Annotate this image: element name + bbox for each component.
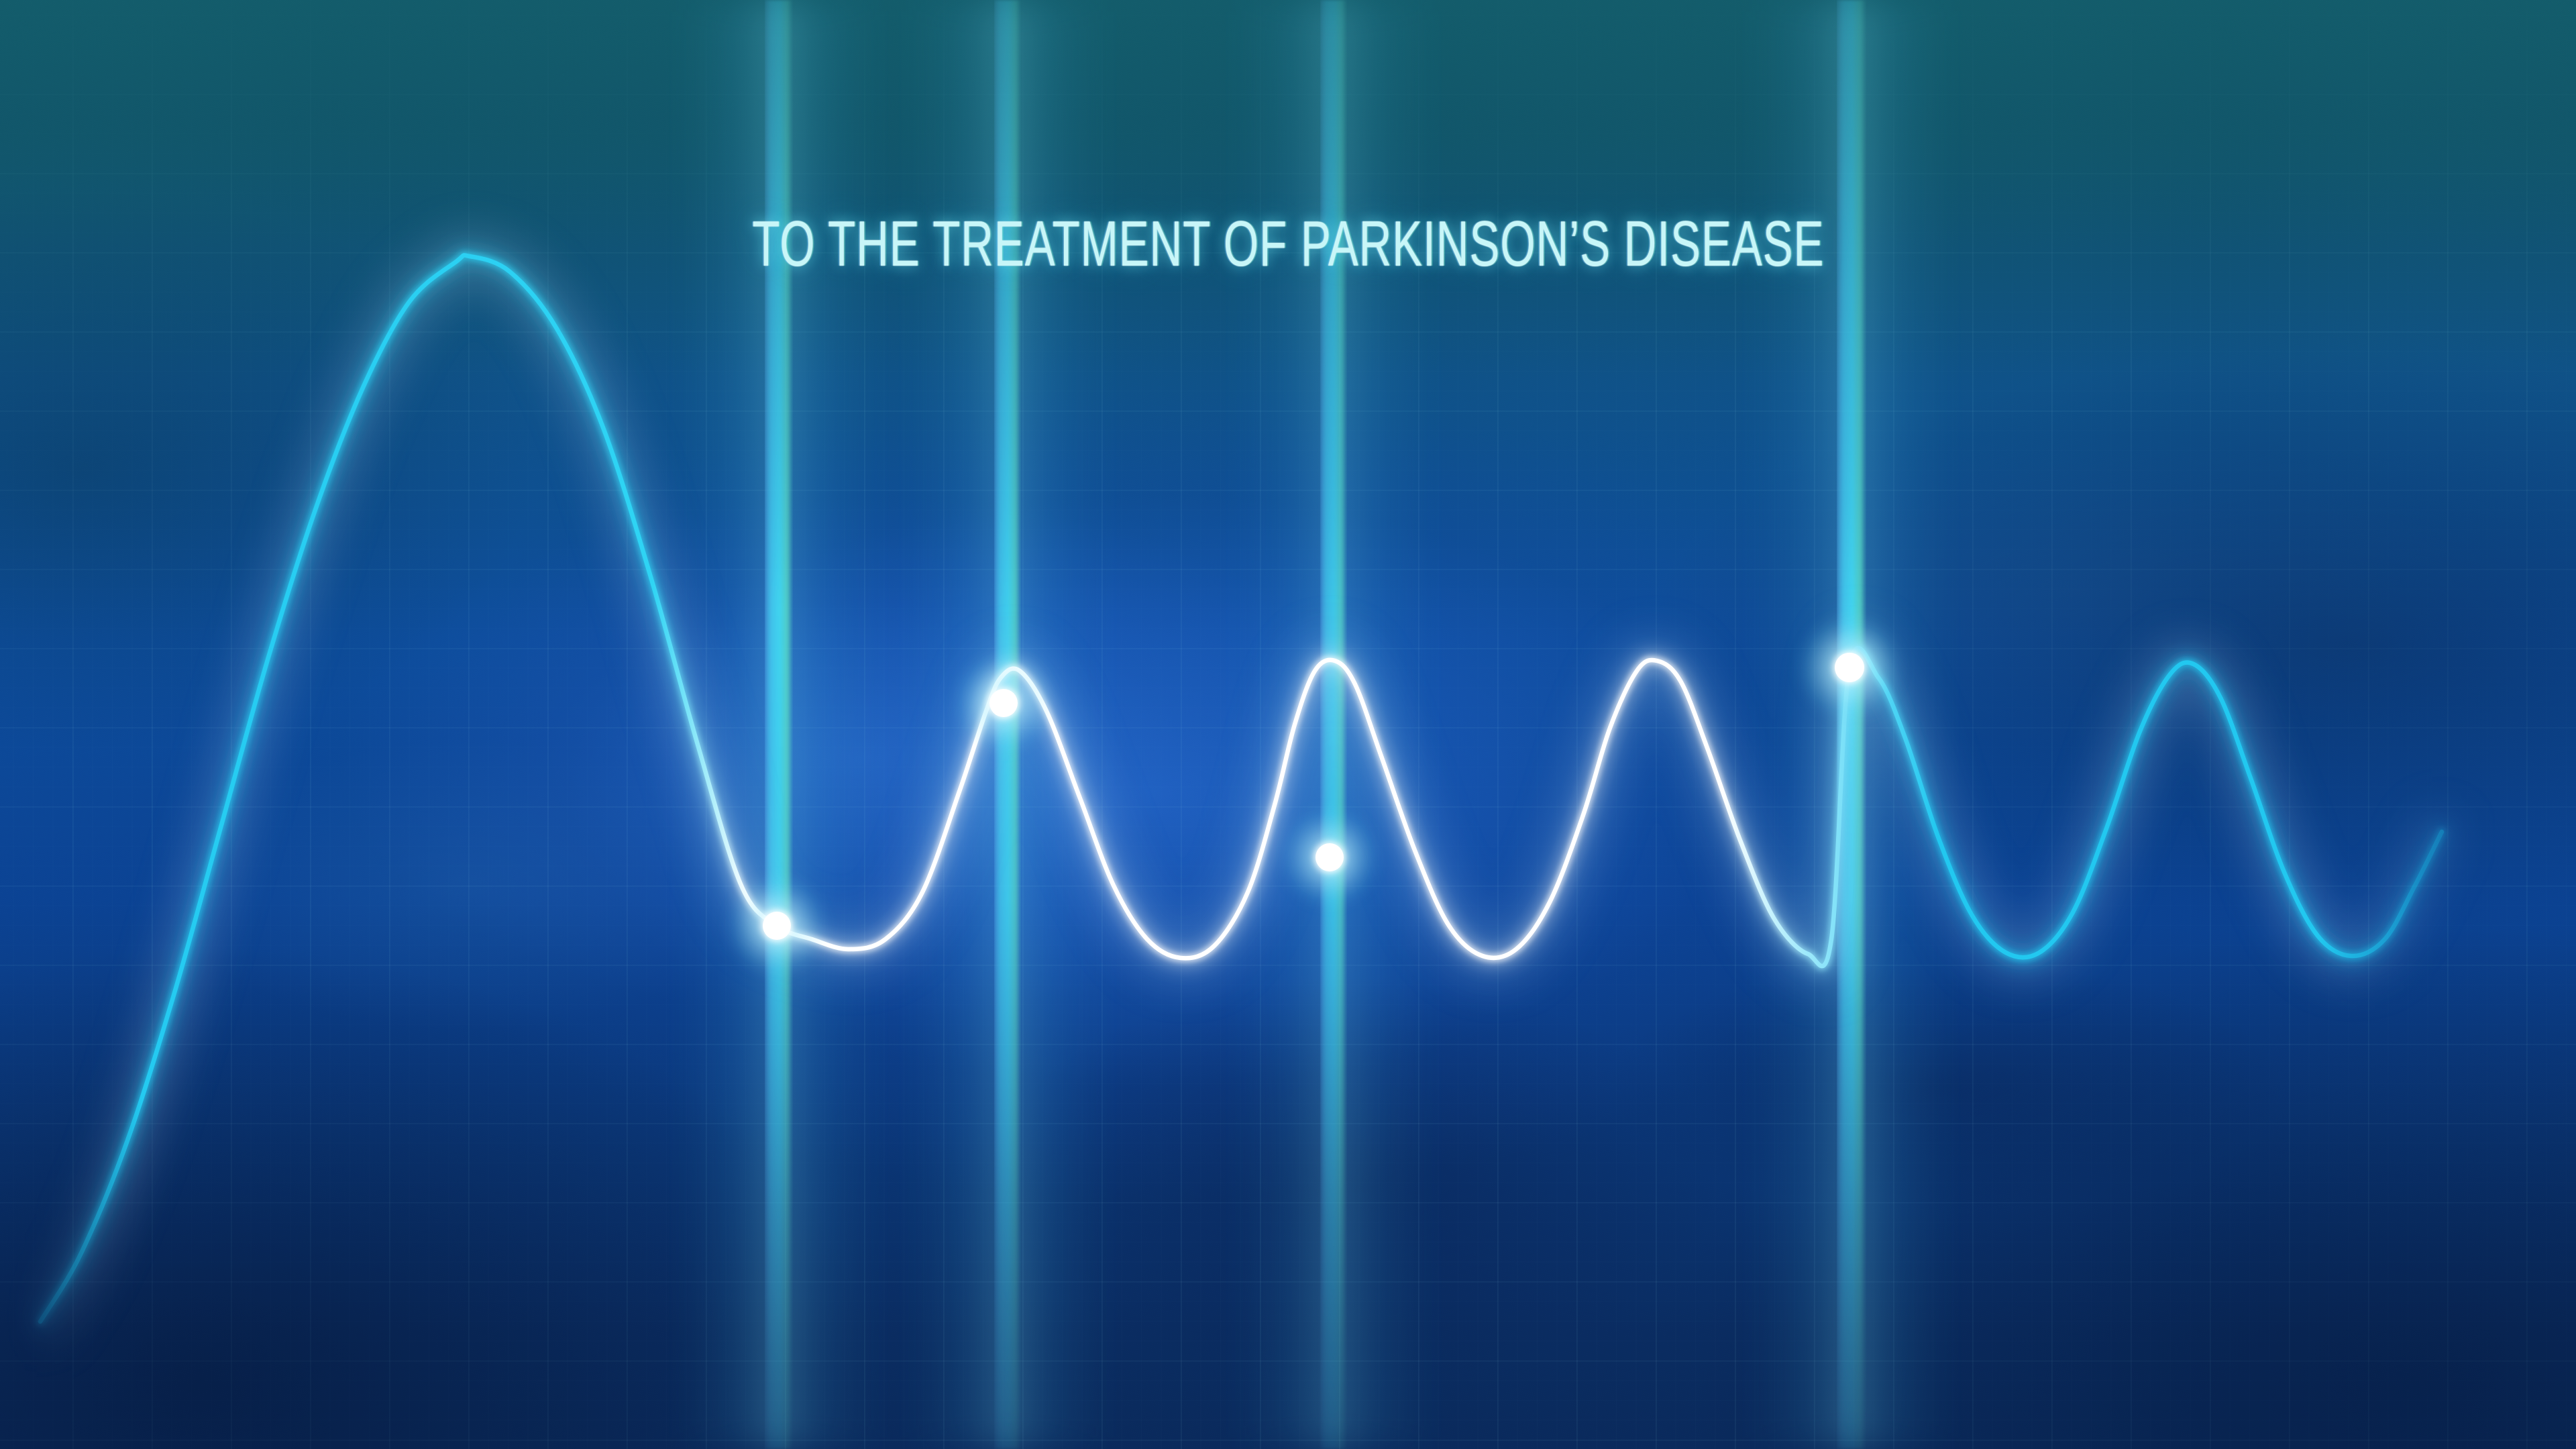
beam-3	[1213, 0, 1454, 1449]
headline-block: TO THE TREATMENT OF PARKINSON’S DISEASE	[0, 169, 2576, 320]
background-top-teal-wash	[0, 0, 2576, 1449]
technical-grid-fine	[0, 0, 2576, 1449]
node-1-glow	[729, 878, 825, 974]
beam-4	[1731, 0, 1972, 1449]
node-4-glow	[1799, 617, 1900, 718]
background-center-bloom	[0, 0, 2576, 1449]
background-film-grain	[0, 0, 2576, 1449]
background-gradient	[0, 0, 2576, 1449]
node-3-glow	[1282, 810, 1378, 906]
page-title: TO THE TREATMENT OF PARKINSON’S DISEASE	[752, 212, 1824, 276]
signal-waveform	[0, 0, 2576, 1449]
beam-4-core	[1837, 0, 1866, 1449]
beam-2	[887, 0, 1128, 1449]
node-1	[763, 912, 791, 940]
background-soft-blobs	[0, 0, 2576, 1449]
waveform-inner-glow	[40, 255, 2442, 1322]
beam-1-core	[765, 0, 793, 1449]
beam-2-core	[994, 0, 1021, 1449]
technical-grid	[0, 0, 2576, 1449]
beam-2-halo	[907, 0, 1108, 1449]
background-secondary-bloom	[0, 0, 2576, 1449]
background-vignette	[0, 0, 2576, 1449]
node-2	[989, 689, 1018, 717]
node-3	[1316, 843, 1344, 871]
hero-canvas: TO THE TREATMENT OF PARKINSON’S DISEASE	[0, 0, 2576, 1449]
waveform-line	[40, 255, 2442, 1322]
node-4	[1835, 653, 1864, 682]
beam-1	[658, 0, 900, 1449]
waveform-outer-glow	[40, 255, 2442, 1322]
beam-1-halo	[678, 0, 879, 1449]
node-2-glow	[956, 655, 1052, 751]
beam-4-halo	[1751, 0, 1952, 1449]
beam-3-core	[1320, 0, 1347, 1449]
beam-3-halo	[1233, 0, 1434, 1449]
waveform-mid-glow	[40, 255, 2442, 1322]
